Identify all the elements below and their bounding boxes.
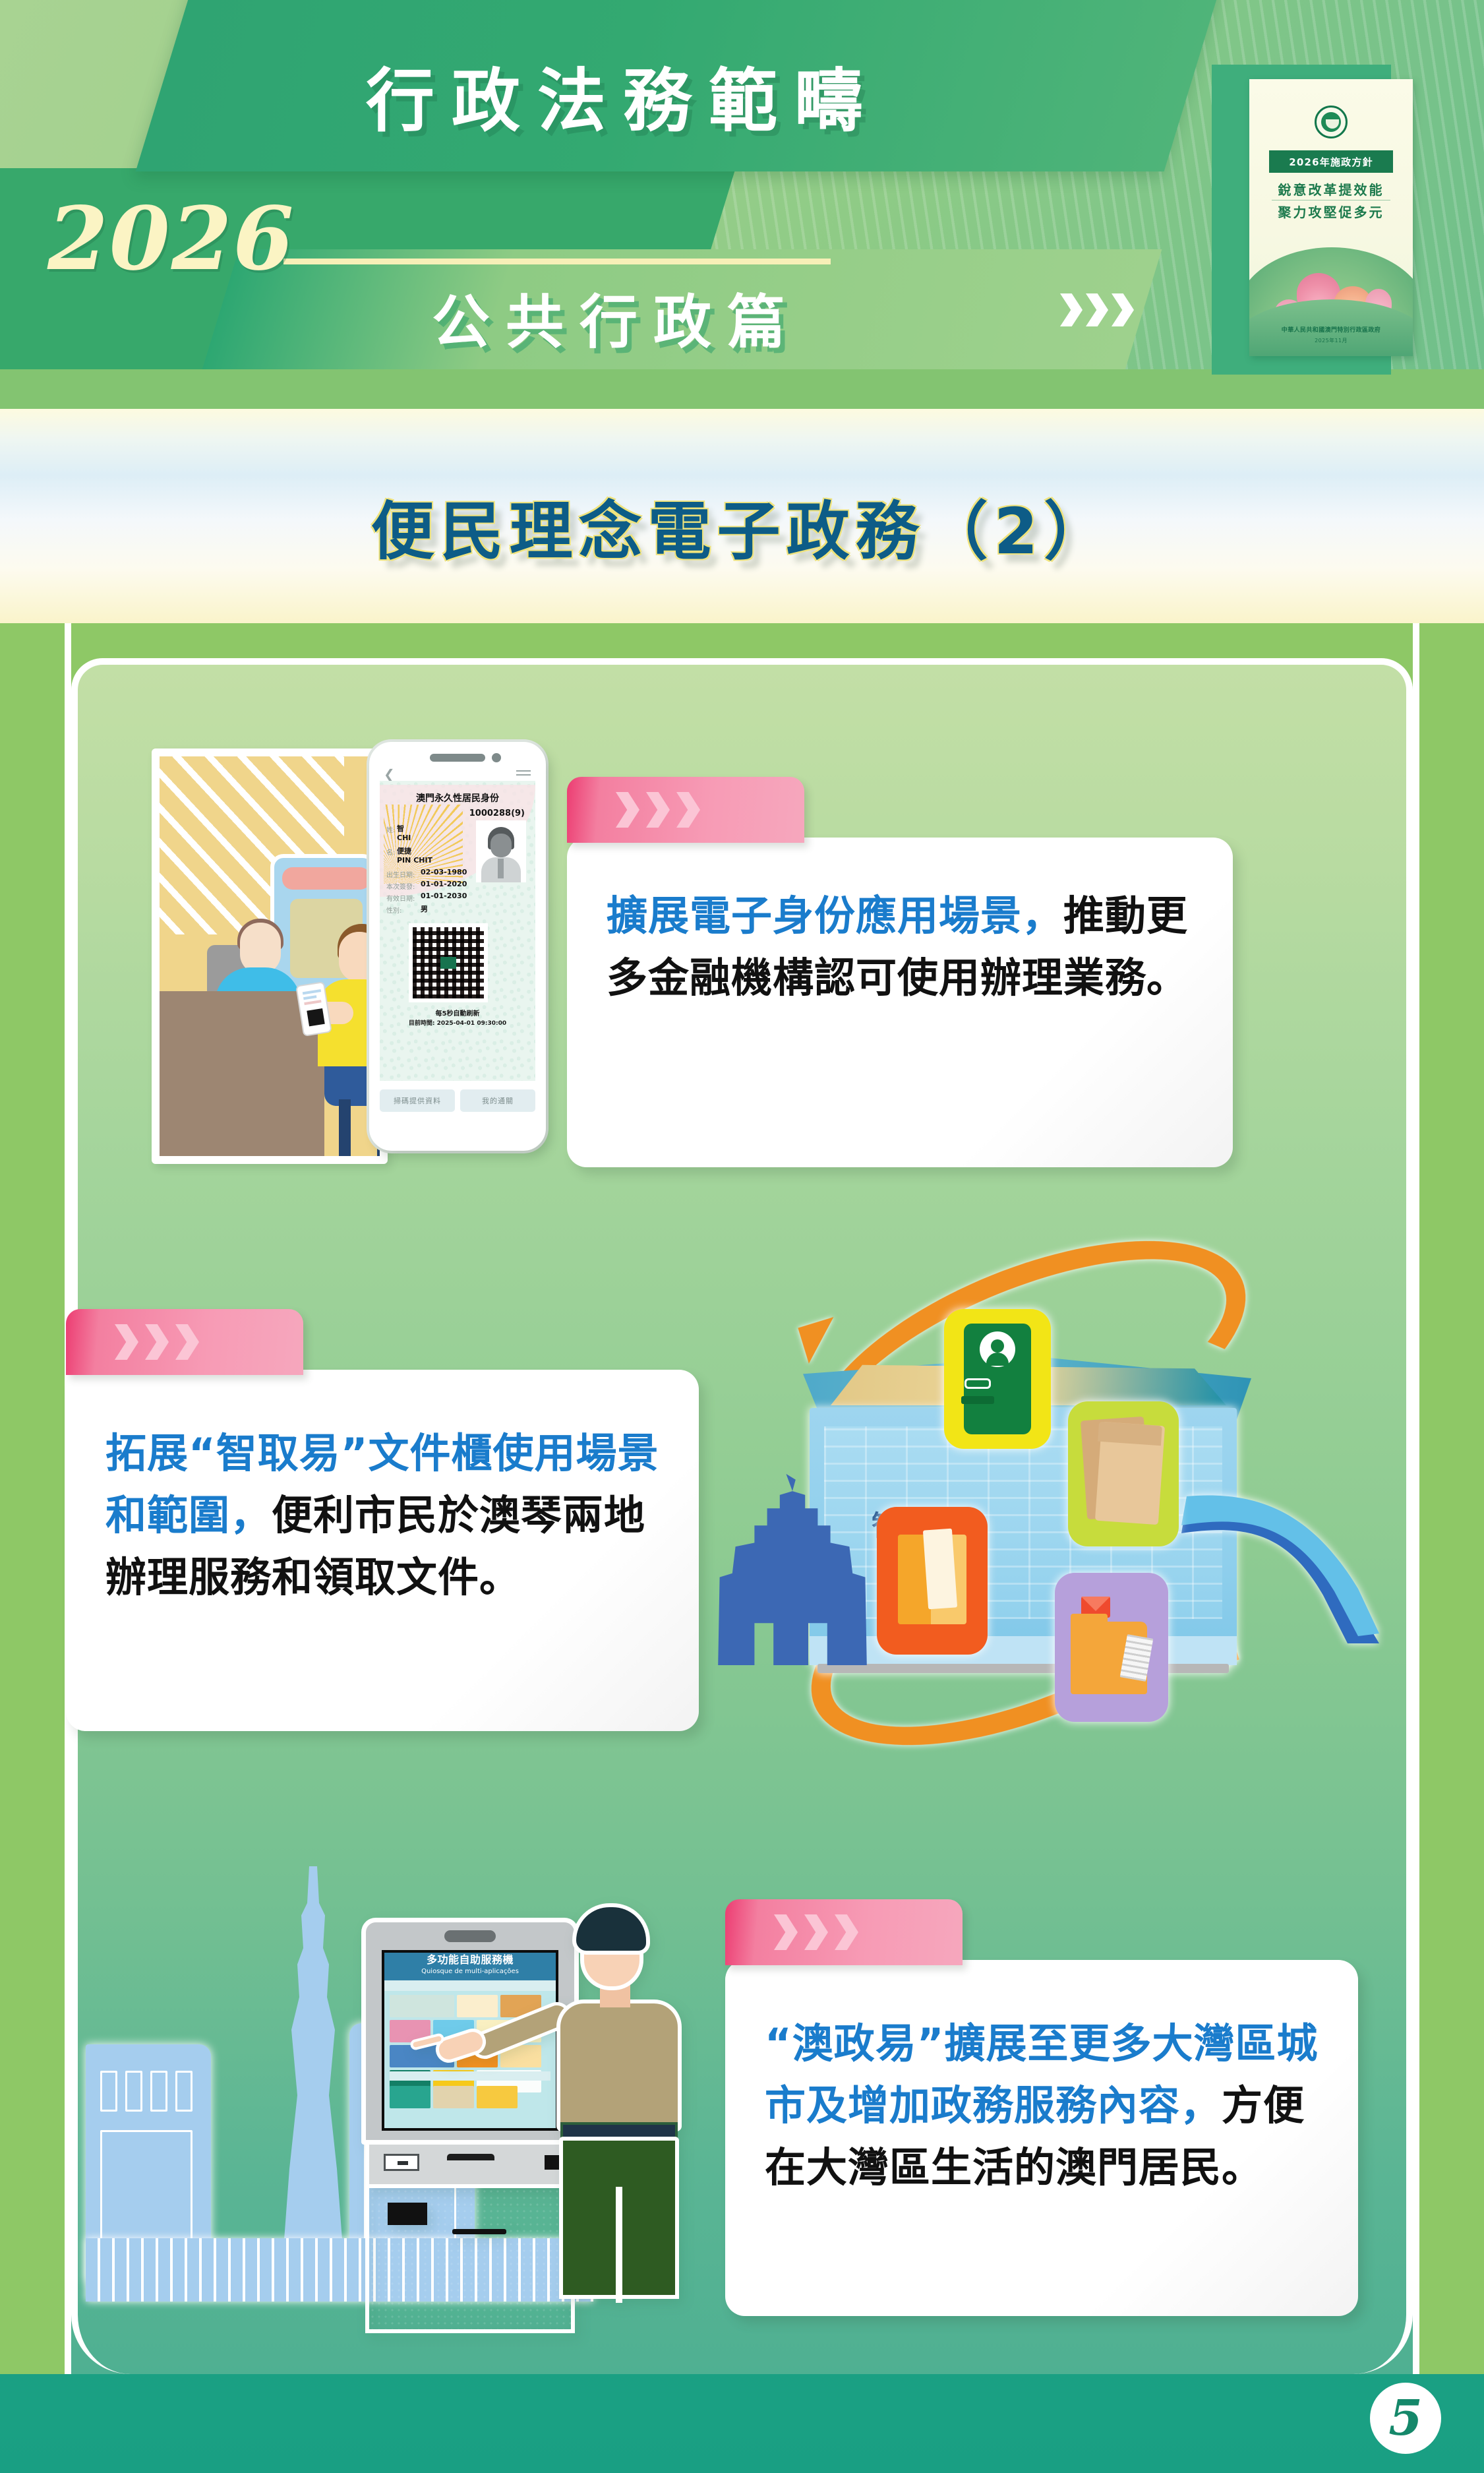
booklet-slogan-rule	[1272, 200, 1390, 200]
eid-value-dob: 02-03-1980	[421, 868, 467, 876]
kiosk-title-zh: 多功能自助服務機	[384, 1953, 556, 1967]
booklet-slogan-line2: 聚力攻堅促多元	[1249, 202, 1413, 221]
macau-tower-icon	[264, 1866, 363, 2275]
frame-gap-right	[1413, 623, 1419, 2374]
header-title-main: 行政法務範疇	[366, 45, 880, 144]
eid-value-surname-en: CHI	[397, 834, 411, 842]
kiosk-printer-port	[388, 2203, 427, 2225]
eid-label-sex: 性別:	[386, 905, 401, 915]
illustration-eid-service: ❮ 澳門永久性居民身份 1000288(9) 姓: 智 CHI 名: 便捷 PI…	[152, 742, 626, 1177]
header-title-sub: 公共行政篇	[432, 276, 801, 359]
user-shirt	[556, 2000, 682, 2131]
eid-value-given-en: PIN CHIT	[397, 856, 432, 865]
eid-refresh-note: 每5秒自動刷新	[380, 1008, 535, 1018]
eid-label-given: 名:	[386, 847, 395, 857]
page-title: 便民理念電子政務（2）	[0, 480, 1484, 572]
eid-label-expiry: 有效日期:	[386, 893, 415, 903]
document-slot-icon	[447, 2154, 494, 2160]
card-eid: 擴展電子身份應用場景，推動更多金融機構認可使用辦理業務。	[567, 838, 1233, 1167]
header-chevron-right-icon	[1060, 293, 1134, 326]
booklet-publisher: 中華人民共和國澳門特別行政區政府	[1249, 325, 1413, 334]
kiosk-divider-band	[390, 2071, 550, 2081]
card-tab-macau-one-account	[725, 1899, 963, 1965]
eid-label-dob: 出生日期:	[386, 869, 415, 879]
kiosk-service-grid-secondary[interactable]	[390, 2086, 550, 2108]
counter-desk	[153, 991, 324, 1156]
card-reader-icon	[384, 2154, 419, 2171]
arrow-head-left-icon	[786, 1304, 834, 1363]
chair-leg	[339, 1099, 351, 1164]
policy-booklet-cover: 2026年施政方針 銳意改革提效能 聚力攻堅促多元 中華人民共和國澳門特別行政區…	[1249, 79, 1413, 356]
header-year-rule	[283, 259, 831, 264]
kiosk-output-slot	[452, 2229, 506, 2234]
card-tab-smart-locker	[66, 1309, 303, 1375]
back-chevron-icon[interactable]: ❮	[384, 768, 395, 781]
id-card-tile	[944, 1309, 1051, 1449]
booklet-slogan-line1: 銳意改革提效能	[1249, 179, 1413, 198]
card-eid-text-blue: 擴展電子身份應用場景，	[607, 892, 1063, 940]
qr-code-icon	[307, 1008, 324, 1026]
header-bottom-band	[0, 369, 1484, 409]
page-number-badge: 5	[1370, 2383, 1441, 2454]
eid-value-surname-zh: 智	[397, 823, 404, 834]
locker-base	[810, 1636, 1237, 1665]
kiosk-title-pt: Quiosque de multi-aplicações	[384, 1967, 556, 1976]
service-counter-scene	[152, 748, 388, 1164]
phone-speaker	[430, 754, 485, 762]
kiosk-user-figure	[541, 1903, 712, 2299]
kiosk-screen-subbar	[384, 1980, 556, 1991]
booklet-date: 2025年11月	[1249, 337, 1413, 344]
eid-card-title: 澳門永久性居民身份	[380, 791, 535, 805]
booklet-band-label: 2026年施政方針	[1269, 150, 1393, 173]
illustration-kiosk-skyline: 多功能自助服務機 Quiosque de multi-aplicações	[86, 1781, 712, 2302]
infographic-page: 2026 行政法務範疇 公共行政篇 2026年施政方針 銳意改革提效能 聚力攻堅…	[0, 0, 1484, 2473]
card-tab-eid	[567, 777, 804, 843]
eid-phone-mockup: ❮ 澳門永久性居民身份 1000288(9) 姓: 智 CHI 名: 便捷 PI…	[369, 742, 546, 1151]
page-number: 5	[1388, 2394, 1423, 2443]
card-smart-locker: 拓展“智取易”文件櫃使用場景和範圍，便利市民於澳琴兩地辦理服務和領取文件。	[66, 1370, 699, 1731]
scan-provide-data-button[interactable]: 掃碼提供資料	[380, 1089, 455, 1112]
my-border-crossing-button[interactable]: 我的通關	[460, 1089, 535, 1112]
kiosk-camera-icon	[444, 1930, 496, 1942]
illustration-smart-locker: 智取易	[699, 1256, 1358, 1731]
folder-mail-tile	[1055, 1573, 1168, 1722]
user-hair	[572, 1903, 650, 1955]
eid-value-given-zh: 便捷	[397, 845, 411, 856]
eid-value-sex: 男	[421, 903, 428, 914]
hamburger-menu-icon[interactable]	[516, 770, 531, 778]
kiosk-screen-header: 多功能自助服務機 Quiosque de multi-aplicações	[384, 1953, 556, 1980]
booklet-tile	[877, 1507, 988, 1655]
eid-action-bar: 掃碼提供資料 我的通關	[380, 1089, 535, 1112]
eid-label-issue: 本次簽發:	[386, 881, 415, 891]
phone-camera-icon	[492, 753, 501, 762]
hengqin-bridge-swoosh-icon	[1181, 1495, 1379, 1647]
eid-card-panel: 澳門永久性居民身份 1000288(9) 姓: 智 CHI 名: 便捷 PIN …	[380, 781, 535, 1081]
eid-portrait-photo	[476, 820, 526, 882]
clerk-head	[240, 923, 281, 974]
eid-current-time: 目前時間: 2025-04-01 09:30:00	[380, 1018, 535, 1027]
eid-id-number: 1000288(9)	[469, 809, 525, 818]
macau-sar-emblem-icon	[1315, 106, 1348, 138]
user-trousers	[559, 2137, 679, 2299]
qr-code-icon	[409, 923, 488, 1002]
eid-value-expiry: 01-01-2030	[421, 892, 467, 900]
header-year: 2026	[47, 188, 295, 290]
envelope-tile	[1068, 1401, 1179, 1546]
card-macau-one-account: “澳政易”擴展至更多大灣區城市及增加政務服務內容，方便在大灣區生活的澳門居民。	[725, 1960, 1358, 2316]
eid-value-issue: 01-01-2020	[421, 880, 467, 888]
eid-label-surname: 姓:	[386, 824, 395, 834]
